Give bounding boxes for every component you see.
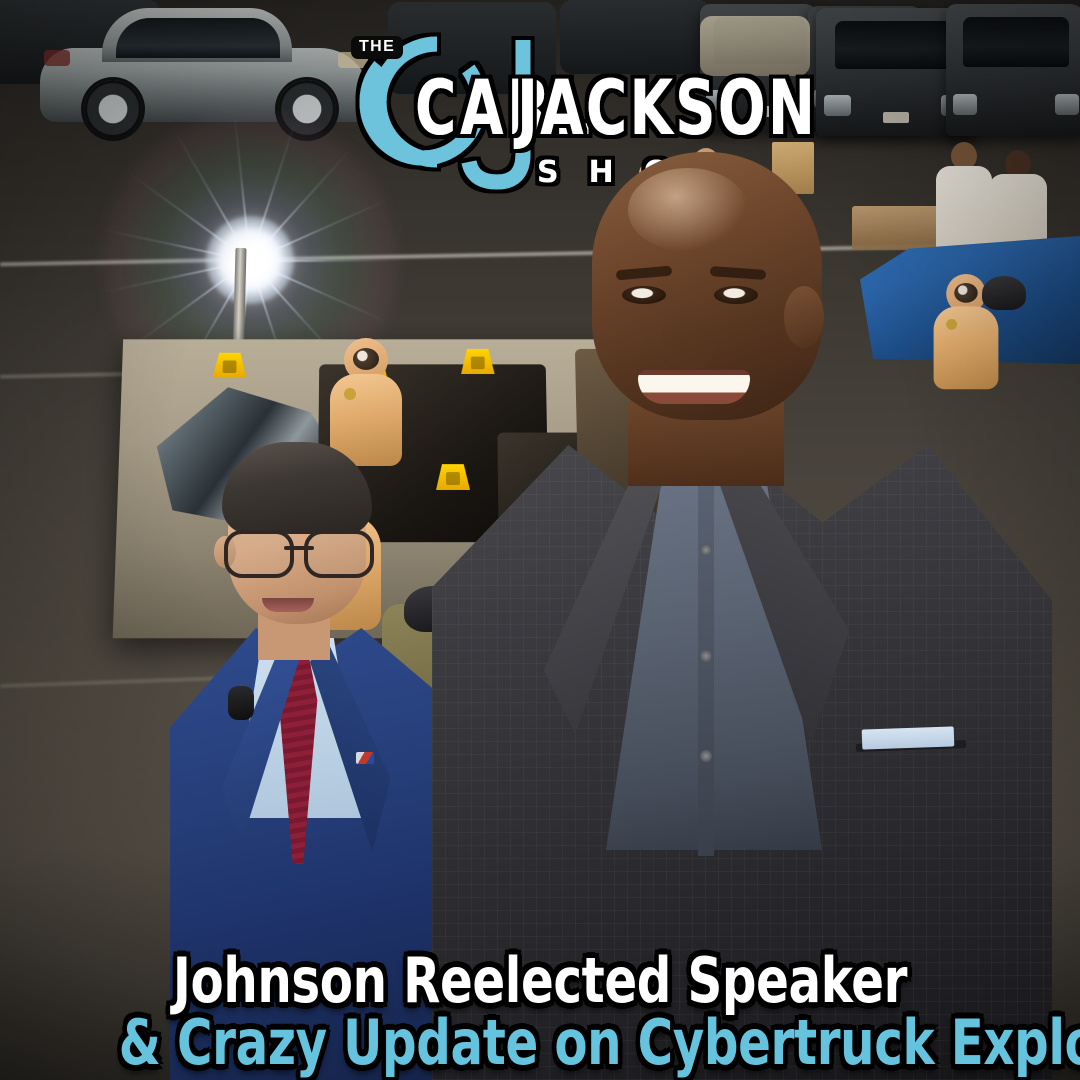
carl-head-highlight — [628, 168, 748, 252]
shirt-button — [700, 650, 712, 662]
silver-sedan — [40, 6, 370, 138]
shirt-button — [700, 544, 712, 556]
lapel-microphone-icon — [228, 686, 254, 720]
title-line-2: & Crazy Update on Cybertruck Explosion — [119, 1013, 961, 1074]
american-flag-pin-icon — [356, 752, 374, 764]
evidence-marker — [213, 353, 247, 378]
carl-eye — [622, 286, 666, 304]
shirt-button — [700, 750, 712, 762]
logo-the-badge: THE — [351, 36, 403, 59]
carl-eye — [714, 286, 758, 304]
carl-jackson-cutout — [432, 152, 1052, 1080]
johnson-mouth — [262, 598, 314, 612]
carl-nose — [662, 308, 716, 370]
svg-text:JACKSON: JACKSON — [514, 64, 818, 153]
podcast-thumbnail: CARL JACKSON SHOW THE — [0, 0, 1080, 1080]
johnson-hair — [222, 442, 372, 534]
eyeglasses-icon — [224, 530, 374, 572]
title-line-1: Johnson Reelected Speaker — [119, 951, 961, 1012]
parked-car — [946, 4, 1080, 136]
logo-wordmark-jackson: JACKSON — [514, 64, 818, 153]
carl-pocket-square — [862, 726, 955, 749]
episode-title: Johnson Reelected Speaker & Crazy Update… — [0, 951, 1080, 1075]
carl-ear — [784, 286, 824, 348]
carl-smile — [638, 370, 750, 404]
